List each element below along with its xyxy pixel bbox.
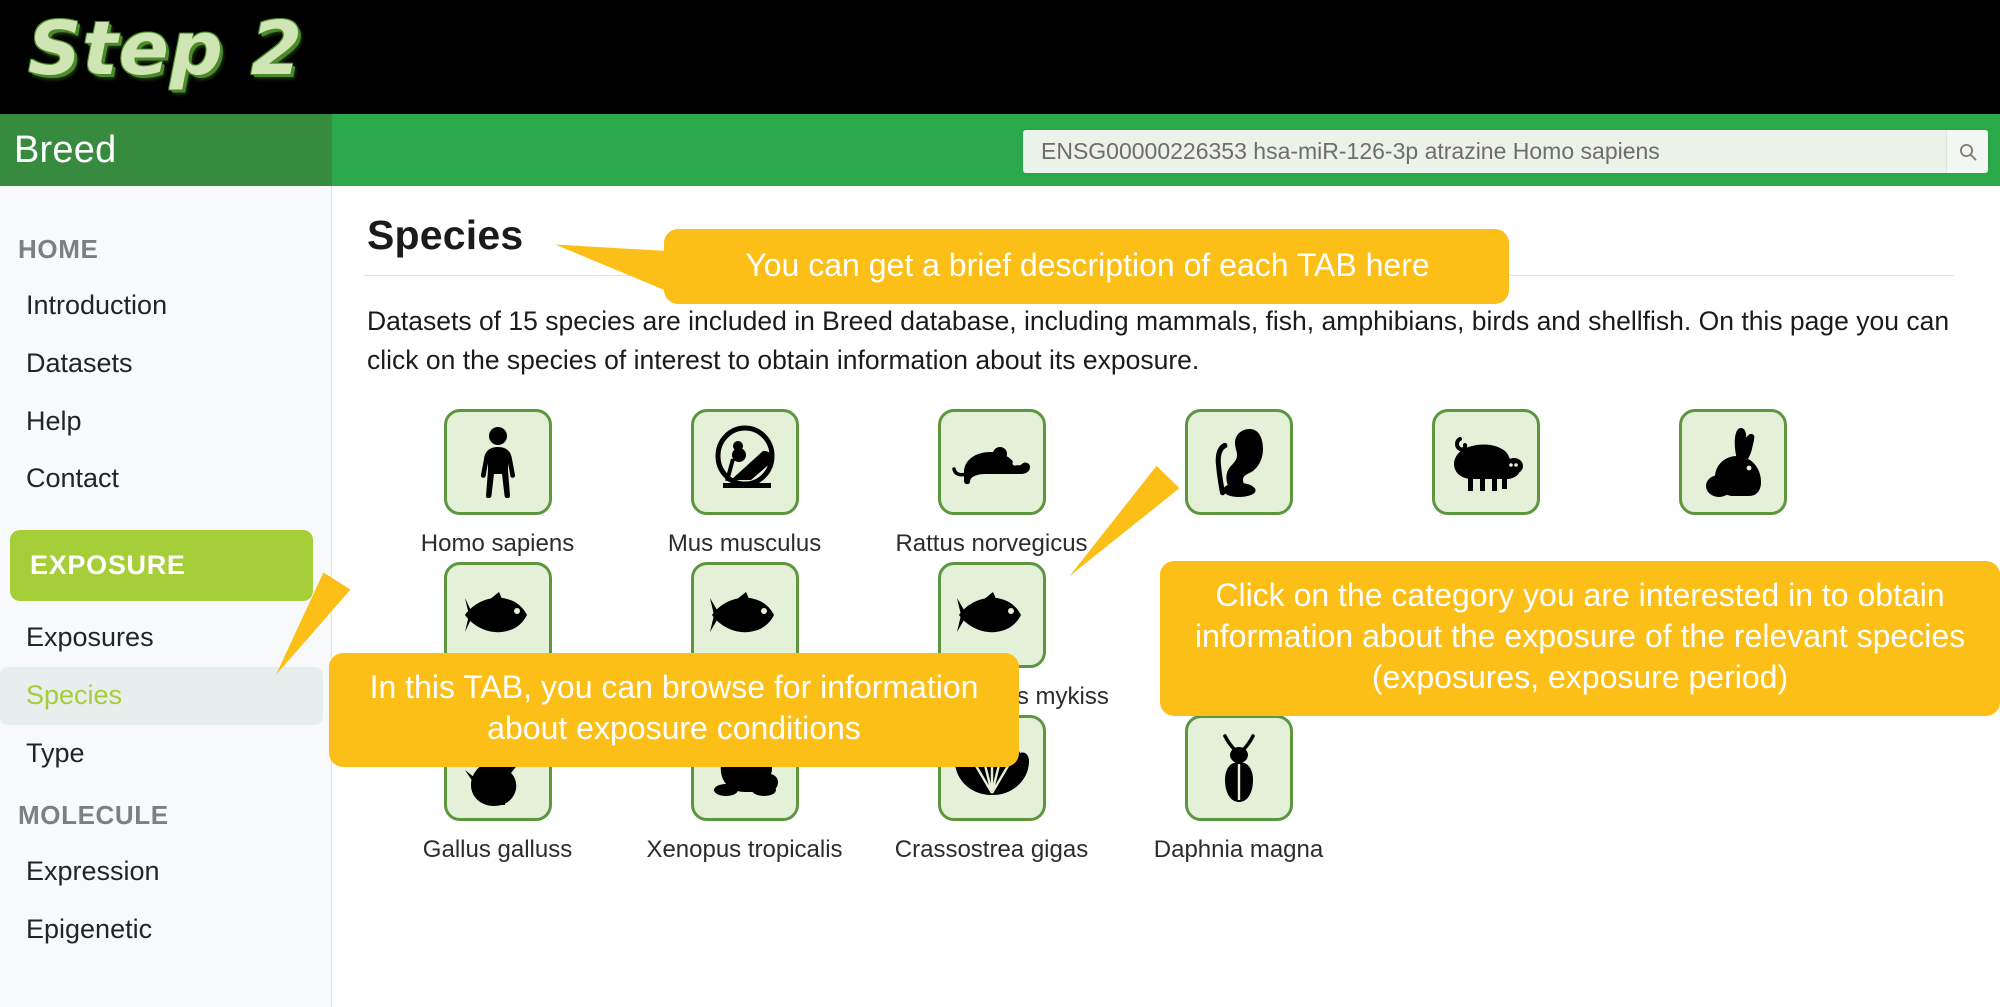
species-tile[interactable] <box>1679 409 1787 515</box>
sidebar-item-species[interactable]: Species <box>0 667 323 725</box>
callout-click-category: Click on the category you are interested… <box>1160 561 2000 716</box>
intro-paragraph: Datasets of 15 species are included in B… <box>364 302 1954 379</box>
species-label: Xenopus tropicalis <box>646 836 842 864</box>
sidebar-section-molecule: MOLECULE <box>0 782 331 843</box>
species-tile[interactable] <box>938 409 1046 515</box>
species-card-homo-sapiens[interactable]: Homo sapiens <box>374 409 621 558</box>
species-card-mus-musculus[interactable]: Mus musculus <box>621 409 868 558</box>
pig-icon <box>1446 431 1526 493</box>
species-label: Daphnia magna <box>1154 836 1323 864</box>
species-tile[interactable] <box>1185 409 1293 515</box>
species-label: Homo sapiens <box>421 530 574 558</box>
mouse-wheel-icon <box>707 425 783 499</box>
sidebar-item-introduction[interactable]: Introduction <box>0 277 331 335</box>
callout-browse-exposure: In this TAB, you can browse for informat… <box>329 653 1019 767</box>
species-card-rabbit[interactable] <box>1609 409 1856 558</box>
callout-text: You can get a brief description of each … <box>745 247 1429 283</box>
rabbit-icon <box>1697 424 1769 500</box>
species-tile[interactable] <box>1432 409 1540 515</box>
species-label: Mus musculus <box>668 530 821 558</box>
species-label: Rattus norvegicus <box>895 530 1087 558</box>
search-input[interactable] <box>1023 130 1946 173</box>
species-card-daphnia-magna[interactable]: Daphnia magna <box>1115 715 1362 864</box>
sidebar-item-type[interactable]: Type <box>0 725 331 783</box>
sidebar-section-exposure[interactable]: EXPOSURE <box>10 530 313 601</box>
callout-text: In this TAB, you can browse for informat… <box>370 669 979 746</box>
callout-text: Click on the category you are interested… <box>1195 577 1965 695</box>
species-card-pig[interactable] <box>1362 409 1609 558</box>
species-label: Crassostrea gigas <box>895 836 1088 864</box>
species-tile[interactable] <box>1185 715 1293 821</box>
search-icon <box>1958 142 1978 162</box>
sidebar-item-contact[interactable]: Contact <box>0 450 331 508</box>
sidebar-item-datasets[interactable]: Datasets <box>0 335 331 393</box>
sidebar-item-epigenetic[interactable]: Epigenetic <box>0 901 331 959</box>
sidebar-item-expression[interactable]: Expression <box>0 843 331 901</box>
brand-title: Breed <box>0 129 116 172</box>
human-icon <box>466 426 530 498</box>
brand-block[interactable]: Breed <box>0 114 332 186</box>
species-tile[interactable] <box>444 409 552 515</box>
species-tile[interactable] <box>691 409 799 515</box>
fish-icon <box>459 590 537 640</box>
species-card-rattus-norvegicus[interactable]: Rattus norvegicus <box>868 409 1115 558</box>
sidebar-item-help[interactable]: Help <box>0 393 331 451</box>
callout-tab-description: You can get a brief description of each … <box>664 229 1509 304</box>
fish-icon <box>706 590 784 640</box>
fish-icon <box>953 590 1031 640</box>
page-root: Step 2 Breed HOME Introduction Datasets … <box>0 0 2000 1007</box>
daphnia-icon <box>1215 730 1263 806</box>
search-button[interactable] <box>1946 130 1988 173</box>
sidebar-section-home: HOME <box>0 216 331 277</box>
step-label: Step 2 <box>28 6 303 92</box>
species-label: Gallus galluss <box>423 836 572 864</box>
search-bar[interactable] <box>1023 130 1988 173</box>
monkey-icon <box>1202 423 1276 501</box>
step-banner: Step 2 <box>0 0 2000 114</box>
sidebar: HOME Introduction Datasets Help Contact … <box>0 186 332 1007</box>
rat-icon <box>952 432 1032 492</box>
